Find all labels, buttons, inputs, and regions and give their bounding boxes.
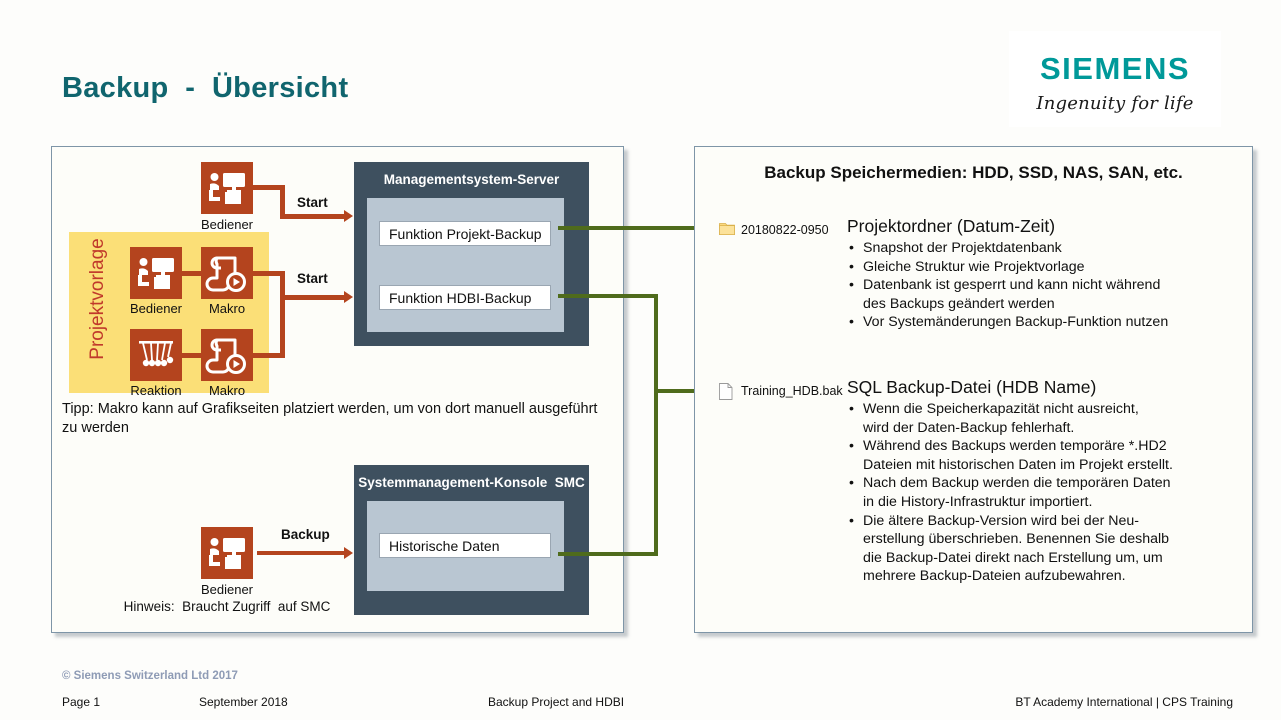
smc-console-title: Systemmanagement-Konsole SMC (354, 475, 589, 490)
funktion-hdbi-backup-field[interactable]: Funktion HDBI-Backup (379, 285, 551, 310)
right-info-panel: Backup Speichermedien: HDD, SSD, NAS, SA… (694, 146, 1253, 633)
artifact-label-file: Training_HDB.bak (741, 384, 843, 398)
makro-icon-2 (201, 329, 253, 381)
bediener-icon (201, 162, 253, 214)
green-connector-hdbi-h (558, 294, 658, 298)
section-heading-projektordner: Projektordner (Datum-Zeit) (847, 216, 1242, 237)
list-item: Gleiche Struktur wie Projektvorlage (847, 258, 1242, 277)
bediener-caption: Bediener (181, 217, 273, 232)
left-diagram-panel: Bediener Projektvorlage Bediener Makro (51, 146, 624, 633)
makro-icon (201, 247, 253, 299)
connector-backup-h (257, 551, 346, 555)
connector-start2-h (280, 295, 346, 300)
file-icon (719, 383, 734, 397)
right-panel-header: Backup Speichermedien: HDD, SSD, NAS, SA… (695, 163, 1252, 183)
list-item: Vor Systemänderungen Backup-Funktion nut… (847, 313, 1242, 332)
connector-label-start-2: Start (297, 271, 328, 286)
tip-text: Tipp: Makro kann auf Grafikseiten platzi… (62, 400, 607, 438)
list-item: Datenbank ist gesperrt und kann nicht wä… (847, 276, 1242, 313)
page-title: Backup - Übersicht (62, 72, 348, 105)
server-inner-panel: Funktion Projekt-Backup Funktion HDBI-Ba… (367, 198, 564, 332)
list-item: Nach dem Backup werden die temporären Da… (847, 474, 1247, 511)
list-item: Wenn die Speicherkapazität nicht ausreic… (847, 400, 1247, 437)
connector-label-backup: Backup (281, 527, 330, 542)
green-connector-projekt-h (558, 226, 708, 230)
bediener-icon-smc (201, 527, 253, 579)
managementsystem-server-box: Managementsystem-Server Funktion Projekt… (354, 162, 589, 346)
historische-daten-field[interactable]: Historische Daten (379, 533, 551, 558)
makro-2-caption: Makro (187, 383, 267, 398)
footer-copyright: © Siemens Switzerland Ltd 2017 (62, 670, 238, 682)
connector-bediener-makro (182, 271, 201, 276)
bediener-icon-template (130, 247, 182, 299)
folder-icon (719, 222, 734, 236)
bullet-list-sql-backup: Wenn die Speicherkapazität nicht ausreic… (847, 400, 1247, 586)
footer-org: BT Academy International | CPS Training (1015, 695, 1233, 709)
bullet-list-projektordner: Snapshot der Projektdatenbank Gleiche St… (847, 239, 1242, 332)
reaktion-icon (130, 329, 182, 381)
green-connector-trunk-v (654, 294, 658, 556)
green-connector-histdata-h (558, 552, 658, 556)
projektvorlage-label: Projektvorlage (87, 224, 109, 374)
connector-label-start-1: Start (297, 195, 328, 210)
smc-note: Hinweis: Braucht Zugriff auf SMC (102, 599, 352, 614)
bediener-smc-caption: Bediener (181, 582, 273, 597)
connector-reaktion-makro (182, 353, 201, 358)
section-heading-sql-backup: SQL Backup-Datei (HDB Name) (847, 377, 1247, 398)
artifact-label-folder: 20180822-0950 (741, 223, 829, 237)
connector-backup-arrow (344, 547, 353, 559)
siemens-claim: Ingenuity for life (1009, 93, 1221, 114)
footer-subject: Backup Project and HDBI (488, 695, 624, 709)
bediener-template-caption: Bediener (114, 301, 198, 316)
smc-console-box: Systemmanagement-Konsole SMC Historische… (354, 465, 589, 615)
connector-start2-arrow (344, 291, 353, 303)
connector-start1-h (280, 214, 346, 219)
list-item: Snapshot der Projektdatenbank (847, 239, 1242, 258)
footer-page-number: Page 1 (62, 695, 100, 709)
siemens-logo: SIEMENS Ingenuity for life (1009, 31, 1221, 127)
siemens-wordmark: SIEMENS (1009, 51, 1221, 87)
connector-start1-arrow (344, 210, 353, 222)
reaktion-caption: Reaktion (114, 383, 198, 398)
list-item: Während des Backups werden temporäre *.H… (847, 437, 1247, 474)
makro-caption: Makro (187, 301, 267, 316)
funktion-projekt-backup-field[interactable]: Funktion Projekt-Backup (379, 221, 551, 246)
list-item: Die ältere Backup-Version wird bei der N… (847, 512, 1247, 586)
footer-date: September 2018 (199, 695, 288, 709)
managementsystem-server-title: Managementsystem-Server (354, 172, 589, 187)
smc-inner-panel: Historische Daten (367, 501, 564, 591)
connector-makro-bus-v (280, 271, 285, 358)
